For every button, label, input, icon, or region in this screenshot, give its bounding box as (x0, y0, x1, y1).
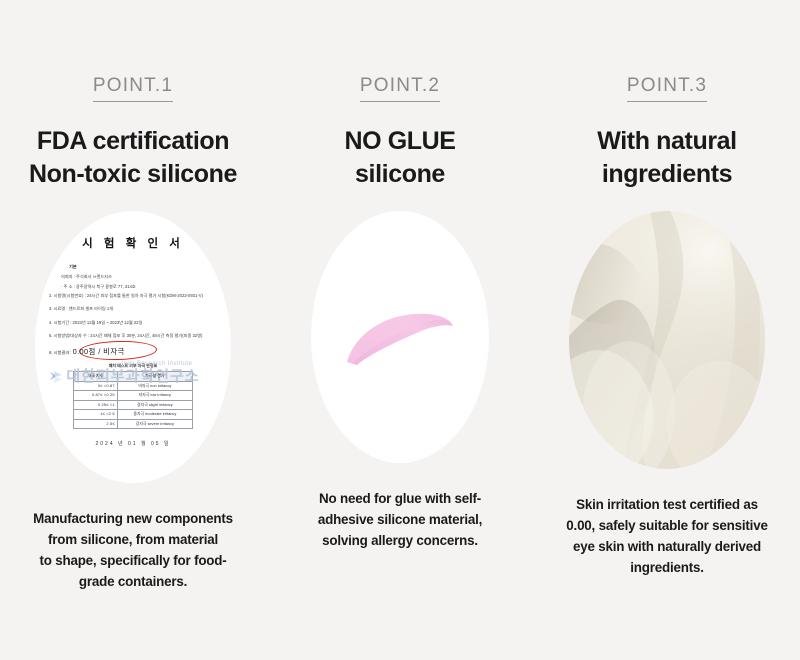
table-header-cell: 자극성 평가 (117, 372, 192, 382)
table-cell-evaluation: 중자극 moderate irritancy (117, 410, 192, 419)
table-cell-evaluation: 저자극 low irritancy (117, 391, 192, 400)
certificate-line: 의뢰자 : 주식회사 ㅂ랜드지쓰 (43, 274, 223, 280)
infographic-board: POINT.1 FDA certification Non-toxic sili… (0, 0, 800, 660)
pink-silicone-photo (311, 211, 489, 463)
certificate-result-row: 6. 시험결과 : 0.00점 / 비자극 (43, 346, 223, 357)
table-cell-index: 0.87≤ <0.25 (74, 391, 118, 400)
table-row: 0≤ <0.87 비자극 non irritancy (74, 381, 193, 390)
point-caption-1: Manufacturing new components from silico… (0, 509, 268, 592)
certificate-photo: 시 험 확 인 서 기본 의뢰자 : 주식회사 ㅂ랜드지쓰 · 주 소 : 광주… (35, 211, 231, 483)
table-cell-evaluation: 경자극 slight irritancy (117, 400, 192, 409)
table-cell-index: 0≤ <0.87 (74, 381, 118, 390)
certificate-line: 3. 시료명 : 앤드로피 셀프 라이팅 1개 (43, 306, 223, 312)
point-eyebrow-2: POINT.2 (360, 76, 440, 102)
certificate-line: · 주 소 : 광주광역시 북구 용봉로 77, 314호 (43, 284, 223, 290)
table-cell-index: 0.25≤ <1 (74, 400, 118, 409)
point-eyebrow-1: POINT.1 (93, 76, 173, 102)
table-row: 0.87≤ <0.25 저자극 low irritancy (74, 391, 193, 400)
certificate-line: 5. 시험방법/대상자 수 : 24시간 패체 첩포 후 30분, 24시간, … (43, 333, 223, 339)
silicone-media (311, 211, 489, 463)
certificate-table-caption: 패치 테스트 피부 자극 판정표 (43, 363, 223, 369)
silicone-strip-shape (341, 304, 459, 366)
certificate-result-value: 0.00점 / 비자극 (73, 347, 125, 356)
irritation-index-table: 자극 지수 자극성 평가 0≤ <0.87 비자극 non irritancy … (73, 371, 193, 429)
table-row: 0.25≤ <1 경자극 slight irritancy (74, 400, 193, 409)
point-eyebrow-3: POINT.3 (627, 76, 707, 102)
point-caption-2: No need for glue with self- adhesive sil… (280, 489, 520, 551)
point-caption-3: Skin irritation test certified as 0.00, … (532, 495, 800, 578)
certificate-document: 시 험 확 인 서 기본 의뢰자 : 주식회사 ㅂ랜드지쓰 · 주 소 : 광주… (35, 211, 231, 483)
point-headline-1: FDA certification Non-toxic silicone (29, 125, 237, 192)
table-header-row: 자극 지수 자극성 평가 (74, 372, 193, 382)
table-cell-index: 2.5≤ (74, 419, 118, 428)
certificate-line: 2. 시험명(시험번호) : 24시간 피부 첩포를 통한 일차 자극 평가 시… (43, 293, 223, 299)
cream-media (569, 211, 765, 469)
point-column-1: POINT.1 FDA certification Non-toxic sili… (0, 0, 266, 660)
certificate-section-label: 기본 (69, 264, 223, 270)
cream-swirl-texture (569, 211, 765, 469)
table-row: 1≤ <2.5 중자극 moderate irritancy (74, 410, 193, 419)
table-header-cell: 자극 지수 (74, 372, 118, 382)
table-row: 2.5≤ 강자극 severe irritancy (74, 419, 193, 428)
point-headline-2: NO GLUE silicone (344, 125, 455, 192)
table-cell-evaluation: 비자극 non irritancy (117, 381, 192, 390)
table-cell-index: 1≤ <2.5 (74, 410, 118, 419)
certificate-media: 시 험 확 인 서 기본 의뢰자 : 주식회사 ㅂ랜드지쓰 · 주 소 : 광주… (35, 211, 231, 483)
cream-texture-photo (569, 211, 765, 469)
certificate-title: 시 험 확 인 서 (43, 235, 223, 251)
certificate-line: 4. 시험기간 : 2023년 12월 19일 ~ 2023년 12월 22일 (43, 320, 223, 326)
point-headline-3: With natural ingredients (597, 125, 736, 192)
certificate-date: 2024 년 01 월 05 일 (43, 440, 223, 447)
certificate-result-prefix: 6. 시험결과 : (49, 350, 71, 355)
table-cell-evaluation: 강자극 severe irritancy (117, 419, 192, 428)
point-column-2: POINT.2 NO GLUE silicone (267, 0, 533, 660)
point-column-3: POINT.3 With natural ingredients (534, 0, 800, 660)
